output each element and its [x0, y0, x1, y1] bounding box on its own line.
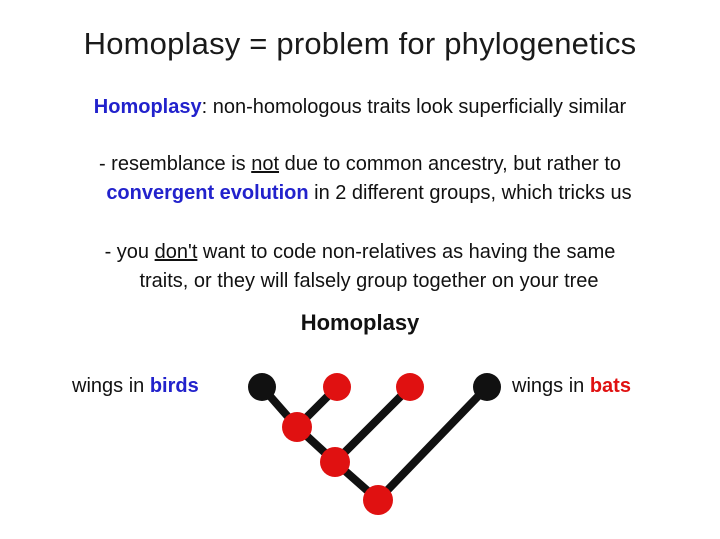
definition-line: Homoplasy: non-homologous traits look su…	[0, 96, 720, 119]
bullet-1-line-1: - resemblance is not due to common ances…	[0, 150, 720, 179]
bullet-item-2: - you don't want to code non-relatives a…	[0, 238, 720, 296]
tree-node-tip-red-2	[396, 373, 424, 401]
tree-branch-internal-2-to-tip-red-2	[335, 387, 410, 462]
bullet-2-underlined-dont: don't	[155, 241, 198, 263]
tree-node-tip-bats	[473, 373, 501, 401]
tree-node-group	[248, 373, 501, 515]
page-title: Homoplasy = problem for phylogenetics	[0, 26, 720, 62]
bullet-2-line-1-pre: - you	[105, 241, 155, 263]
bullet-2-line-1-post: want to code non-relatives as having the…	[197, 241, 615, 263]
bullet-1-line-2: convergent evolution in 2 different grou…	[0, 179, 720, 208]
bullet-item-1: - resemblance is not due to common ances…	[0, 150, 720, 208]
tree-node-internal-1	[282, 412, 312, 442]
diagram-heading: Homoplasy	[0, 310, 720, 336]
tree-node-tip-red-1	[323, 373, 351, 401]
definition-term: Homoplasy	[94, 96, 202, 118]
bullet-1-underlined-not: not	[251, 153, 279, 175]
bullet-1-emphasis-convergent-evolution: convergent evolution	[106, 182, 308, 204]
bullet-2-line-2: traits, or they will falsely group toget…	[0, 267, 720, 296]
bullet-2-line-1: - you don't want to code non-relatives a…	[0, 238, 720, 267]
bullet-1-line-1-post: due to common ancestry, but rather to	[279, 153, 621, 175]
bullet-1-line-1-pre: - resemblance is	[99, 153, 251, 175]
tree-branch-group	[262, 387, 487, 500]
definition-text: non-homologous traits look superficially…	[207, 96, 626, 118]
slide-root: Homoplasy = problem for phylogenetics Ho…	[0, 0, 720, 539]
tree-svg	[0, 355, 720, 535]
tree-node-root	[363, 485, 393, 515]
bullet-1-line-2-post: in 2 different groups, which tricks us	[309, 182, 632, 204]
tree-node-tip-birds	[248, 373, 276, 401]
phylogenetic-tree-diagram: wings in birds wings in bats	[0, 355, 720, 535]
tree-node-internal-2	[320, 447, 350, 477]
